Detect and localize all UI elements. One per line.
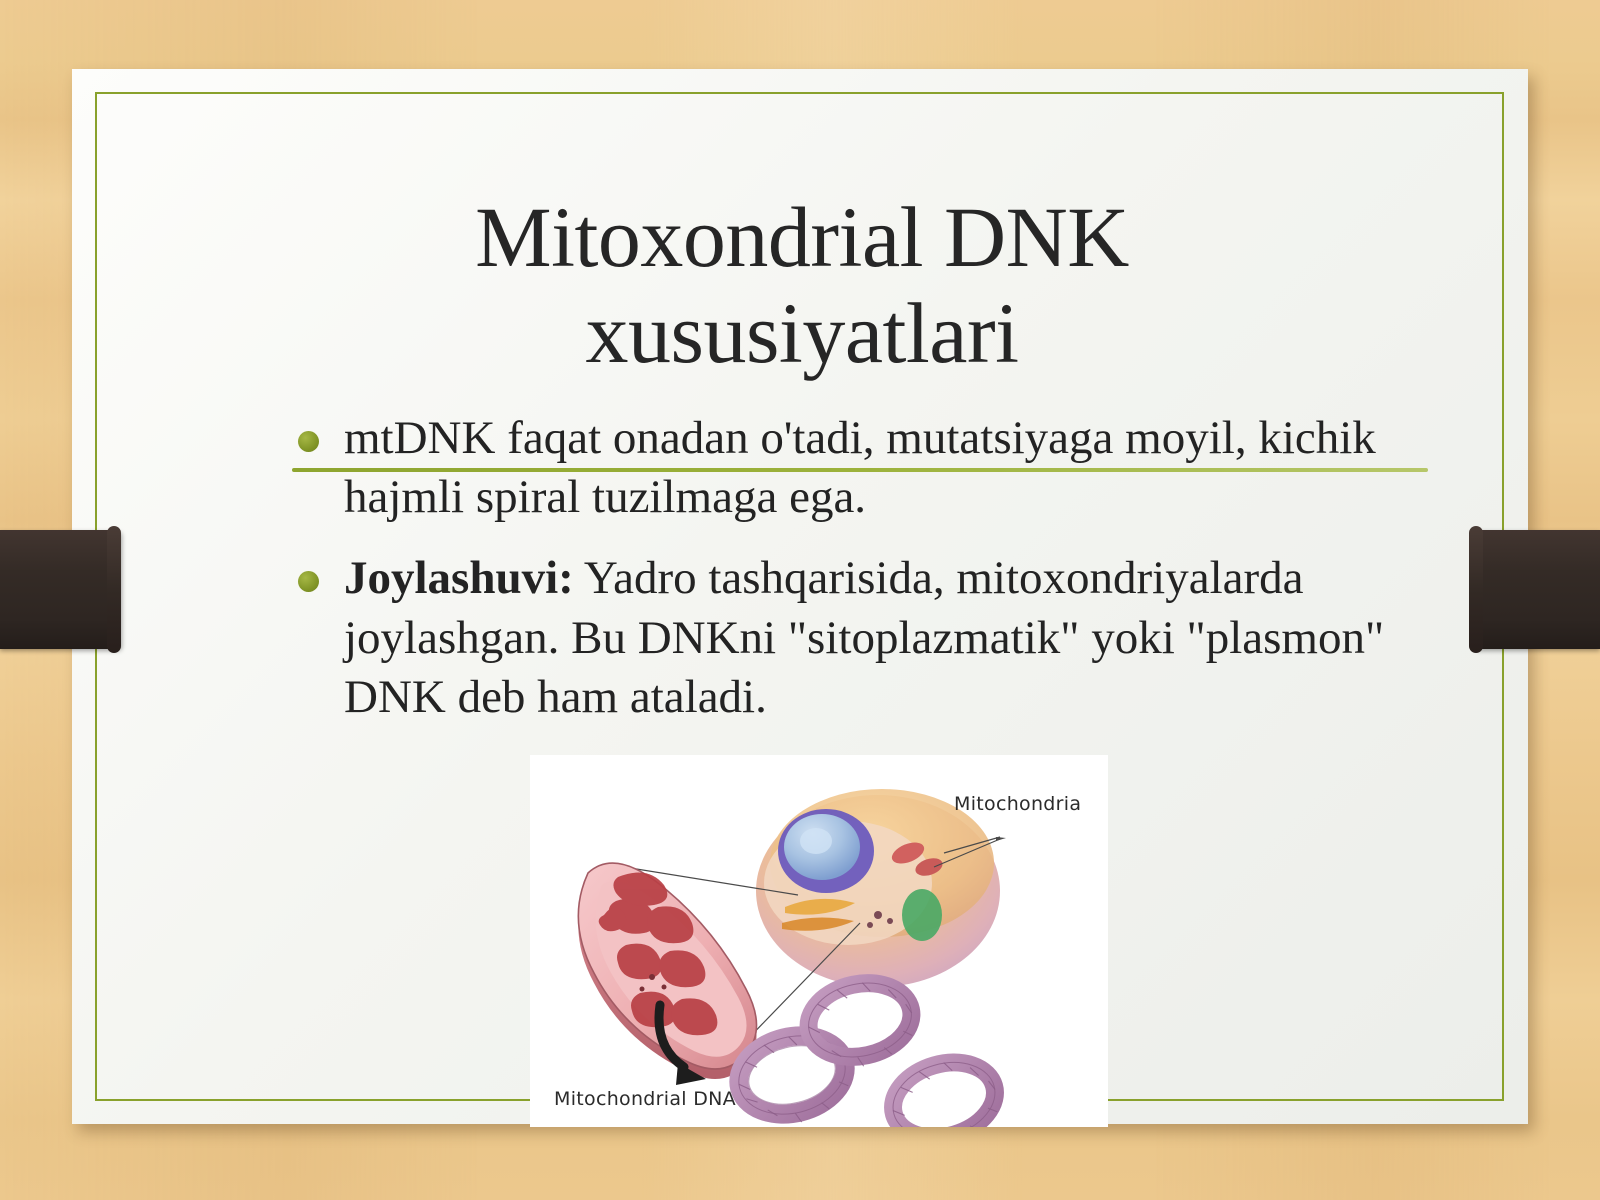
bullet-item-text: mtDNK faqat onadan o'tadi, mutatsiyaga m… xyxy=(344,409,1436,527)
slide-body-content: mtDNK faqat onadan o'tadi, mutatsiyaga m… xyxy=(286,409,1436,749)
bullet-item: Joylashuvi: Yadro tashqarisida, mitoxond… xyxy=(286,549,1436,727)
binder-clip-left xyxy=(0,530,120,649)
binder-clip-knob-right xyxy=(1469,526,1483,653)
figure-label-mitochondrial-dna: Mitochondrial DNA xyxy=(554,1088,736,1110)
bullet-dot-icon xyxy=(298,571,319,592)
bullet-item: mtDNK faqat onadan o'tadi, mutatsiyaga m… xyxy=(286,409,1436,527)
bullet-item-text: Joylashuvi: Yadro tashqarisida, mitoxond… xyxy=(344,549,1436,727)
bullet-dot-icon xyxy=(298,431,319,452)
slide-title-line-2: xususiyatlari xyxy=(586,285,1019,381)
presentation-slide: Mitoxondrial DNK xususiyatlari mtDNK faq… xyxy=(72,69,1528,1124)
figure-label-mitochondria: Mitochondria xyxy=(954,793,1081,815)
mitochondrial-dna-figure: Mitochondria Mitochondrial DNA xyxy=(530,755,1108,1127)
binder-clip-knob-left xyxy=(107,526,121,653)
slide-title: Mitoxondrial DNK xususiyatlari xyxy=(222,189,1382,382)
bullet-lead-term: Joylashuvi: xyxy=(344,552,574,604)
slide-title-line-1: Mitoxondrial DNK xyxy=(475,189,1129,285)
cell-illustration xyxy=(756,789,1000,987)
binder-clip-right xyxy=(1478,530,1600,649)
